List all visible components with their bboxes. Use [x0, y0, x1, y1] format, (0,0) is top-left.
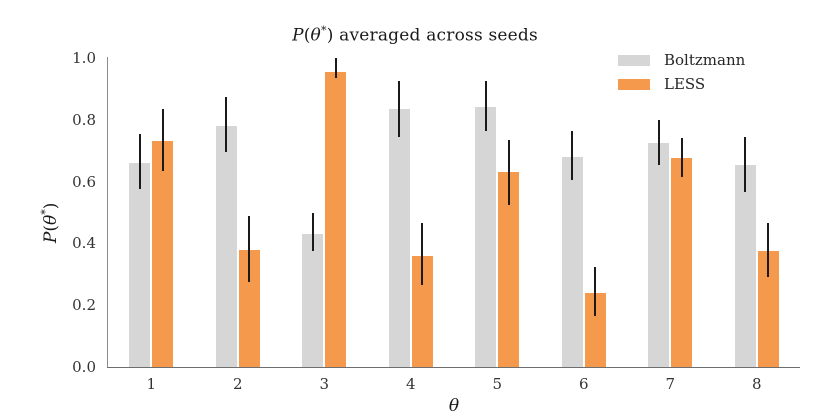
error-bar-less-8 — [767, 223, 769, 277]
x-tick-label: 8 — [737, 375, 777, 393]
x-tick-label: 6 — [564, 375, 604, 393]
legend-item-boltzmann[interactable]: Boltzmann — [618, 48, 818, 72]
x-tick-label: 2 — [218, 375, 258, 393]
legend-label: LESS — [664, 75, 705, 93]
error-bar-less-7 — [681, 138, 683, 177]
bar-boltzmann-8 — [735, 165, 756, 367]
error-bar-less-4 — [421, 223, 423, 285]
error-bar-less-6 — [594, 267, 596, 316]
bar-less-3 — [325, 72, 346, 367]
bar-less-1 — [152, 141, 173, 367]
x-tick-label: 3 — [304, 375, 344, 393]
error-bar-less-2 — [248, 216, 250, 282]
plot-area — [108, 58, 800, 367]
legend-swatch-icon — [618, 55, 650, 66]
bar-boltzmann-7 — [648, 143, 669, 367]
bar-boltzmann-3 — [302, 234, 323, 367]
error-bar-boltzmann-1 — [139, 134, 141, 190]
error-bar-less-1 — [162, 109, 164, 171]
error-bar-boltzmann-7 — [658, 120, 660, 165]
bar-boltzmann-1 — [129, 163, 150, 367]
legend-item-less[interactable]: LESS — [618, 72, 818, 96]
x-tick-label: 7 — [650, 375, 690, 393]
error-bar-boltzmann-4 — [398, 81, 400, 137]
legend-label: Boltzmann — [664, 51, 745, 69]
bar-less-7 — [671, 158, 692, 367]
error-bar-boltzmann-8 — [744, 137, 746, 193]
error-bar-less-5 — [508, 140, 510, 205]
x-tick-label: 5 — [477, 375, 517, 393]
error-bar-boltzmann-2 — [225, 97, 227, 153]
error-bar-boltzmann-3 — [312, 213, 314, 252]
x-tick-label: 4 — [391, 375, 431, 393]
x-axis-label: θ — [108, 396, 800, 416]
bar-boltzmann-6 — [562, 157, 583, 367]
bar-chart-figure: P(θ*) averaged across seeds P(θ*) 0.00.2… — [0, 0, 830, 415]
error-bar-boltzmann-6 — [571, 131, 573, 180]
error-bar-boltzmann-5 — [485, 81, 487, 130]
bar-boltzmann-2 — [216, 126, 237, 367]
bar-boltzmann-4 — [389, 109, 410, 367]
chart-legend: BoltzmannLESS — [618, 48, 818, 96]
bar-boltzmann-5 — [475, 107, 496, 367]
legend-swatch-icon — [618, 79, 650, 90]
error-bar-less-3 — [335, 58, 337, 78]
x-tick-label: 1 — [131, 375, 171, 393]
